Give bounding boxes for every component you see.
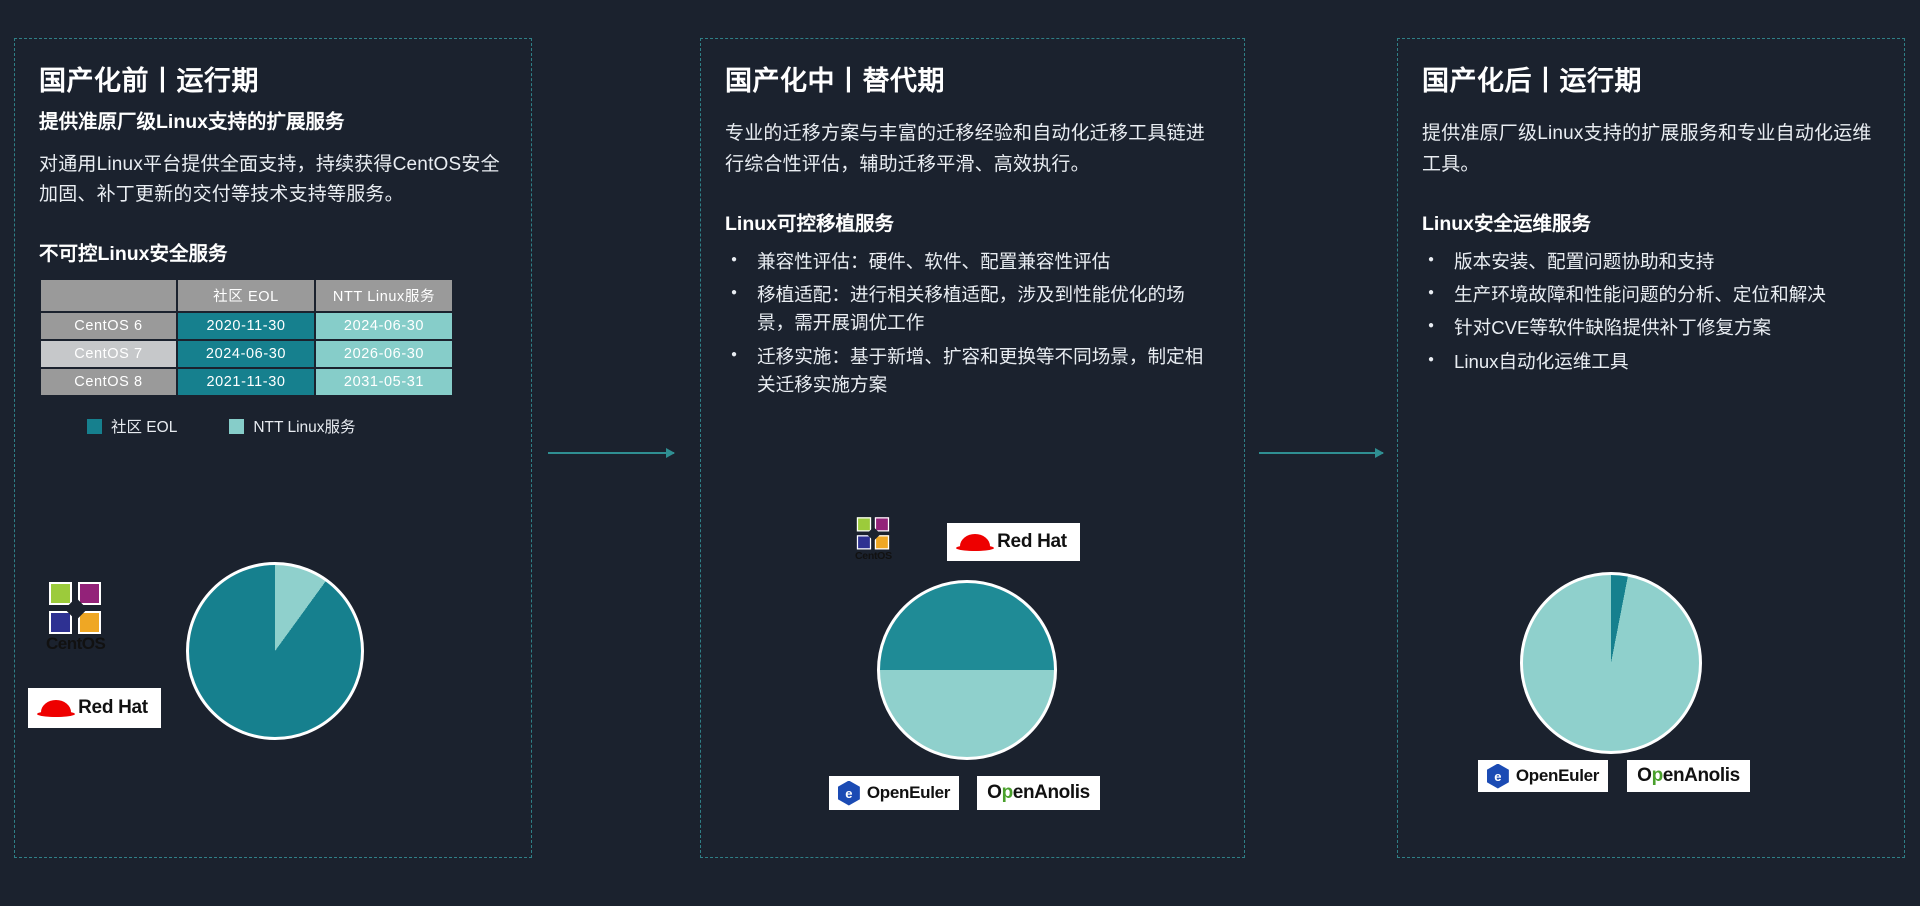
table-header-ntt: NTT Linux服务 bbox=[316, 280, 452, 311]
openeuler-logo: e OpenEuler bbox=[829, 776, 959, 810]
panel-1-title: 国产化前丨运行期 bbox=[39, 65, 507, 97]
redhat-logo: Red Hat bbox=[947, 523, 1080, 561]
openeuler-icon: e bbox=[1487, 764, 1509, 789]
redhat-wordmark: Red Hat bbox=[997, 531, 1067, 553]
centos-icon bbox=[855, 516, 891, 552]
openanolis-o: O bbox=[987, 782, 1001, 803]
arrow-connector-2 bbox=[1259, 452, 1383, 454]
openanolis-wordmark: OpenAnolis bbox=[1637, 765, 1740, 787]
arrow-connector-1 bbox=[548, 452, 674, 454]
legend-item-eol: 社区 EOL bbox=[87, 415, 177, 437]
legend-swatch-icon bbox=[87, 419, 102, 434]
list-item: 迁移实施：基于新增、扩容和更换等不同场景，制定相关迁移实施方案 bbox=[725, 343, 1220, 400]
pie-chart-after bbox=[1520, 572, 1702, 754]
panel-1-subtitle: 提供准原厂级Linux支持的扩展服务 bbox=[39, 109, 507, 135]
table-cell-eol: 2020-11-30 bbox=[178, 313, 314, 339]
legend-item-ntt: NTT Linux服务 bbox=[229, 415, 355, 437]
openanolis-leaf-icon: p bbox=[1652, 765, 1663, 786]
openeuler-wordmark: OpenEuler bbox=[1516, 766, 1599, 786]
centos-logo: CentOS bbox=[855, 516, 892, 562]
table-row: CentOS 8 2021-11-30 2031-05-31 bbox=[41, 369, 452, 395]
list-item: Linux自动化运维工具 bbox=[1422, 348, 1880, 376]
centos-quadrant bbox=[49, 582, 72, 605]
legend-swatch-icon bbox=[229, 419, 244, 434]
redhat-icon bbox=[960, 534, 990, 551]
table-cell-eol: 2024-06-30 bbox=[178, 341, 314, 367]
table-header-eol: 社区 EOL bbox=[178, 280, 314, 311]
table-header-row: 社区 EOL NTT Linux服务 bbox=[41, 280, 452, 311]
table-row: CentOS 7 2024-06-30 2026-06-30 bbox=[41, 341, 452, 367]
panel-3-body: 提供准原厂级Linux支持的扩展服务和专业自动化运维工具。 bbox=[1422, 119, 1880, 181]
centos-quadrant bbox=[78, 582, 101, 605]
redhat-icon bbox=[41, 700, 71, 717]
table-corner-cell bbox=[41, 280, 176, 311]
openeuler-icon: e bbox=[838, 781, 860, 806]
panel-1-body: 对通用Linux平台提供全面支持，持续获得CentOS安全加固、补丁更新的交付等… bbox=[39, 150, 507, 212]
openanolis-logo: OpenAnolis bbox=[977, 776, 1100, 810]
openeuler-logo: e OpenEuler bbox=[1478, 760, 1608, 792]
openanolis-rest: enAnolis bbox=[1013, 782, 1090, 803]
panel-1-section: 不可控Linux安全服务 bbox=[39, 237, 507, 266]
centos-quadrant bbox=[857, 517, 871, 531]
centos-quadrant bbox=[49, 611, 72, 634]
panel-3-title: 国产化后丨运行期 bbox=[1422, 65, 1880, 97]
table-row: CentOS 6 2020-11-30 2024-06-30 bbox=[41, 313, 452, 339]
centos-logo: CentOS bbox=[46, 580, 105, 654]
openanolis-wordmark: OpenAnolis bbox=[987, 782, 1090, 804]
table-cell-eol: 2021-11-30 bbox=[178, 369, 314, 395]
list-item: 版本安装、配置问题协助和支持 bbox=[1422, 248, 1880, 276]
openanolis-o: O bbox=[1637, 765, 1651, 786]
list-item: 针对CVE等软件缺陷提供补丁修复方案 bbox=[1422, 314, 1880, 342]
panel-3-bullets: 版本安装、配置问题协助和支持 生产环境故障和性能问题的分析、定位和解决 针对CV… bbox=[1422, 248, 1880, 376]
slide-canvas: 国产化前丨运行期 提供准原厂级Linux支持的扩展服务 对通用Linux平台提供… bbox=[0, 0, 1920, 906]
table-cell-os: CentOS 6 bbox=[41, 313, 176, 339]
list-item: 生产环境故障和性能问题的分析、定位和解决 bbox=[1422, 281, 1880, 309]
openanolis-rest: enAnolis bbox=[1663, 765, 1740, 786]
centos-icon bbox=[47, 580, 105, 638]
panel-2-bullets: 兼容性评估：硬件、软件、配置兼容性评估 移植适配：进行相关移植适配，涉及到性能优… bbox=[725, 248, 1220, 399]
pie-chart-during bbox=[877, 580, 1057, 760]
openeuler-wordmark: OpenEuler bbox=[867, 783, 950, 803]
list-item: 兼容性评估：硬件、软件、配置兼容性评估 bbox=[725, 248, 1220, 276]
openanolis-leaf-icon: p bbox=[1002, 782, 1013, 803]
table-cell-os: CentOS 8 bbox=[41, 369, 176, 395]
panel-3-section: Linux安全运维服务 bbox=[1422, 207, 1880, 236]
table-cell-os: CentOS 7 bbox=[41, 341, 176, 367]
table-cell-ntt: 2024-06-30 bbox=[316, 313, 452, 339]
legend-label: NTT Linux服务 bbox=[253, 415, 355, 437]
centos-quadrant bbox=[857, 535, 871, 549]
redhat-logo: Red Hat bbox=[28, 688, 161, 728]
eol-table: 社区 EOL NTT Linux服务 CentOS 6 2020-11-30 2… bbox=[39, 278, 454, 397]
panel-2-body: 专业的迁移方案与丰富的迁移经验和自动化迁移工具链进行综合性评估，辅助迁移平滑、高… bbox=[725, 119, 1220, 181]
panel-2-section: Linux可控移植服务 bbox=[725, 207, 1220, 236]
panel-2-title: 国产化中丨替代期 bbox=[725, 65, 1220, 97]
list-item: 移植适配：进行相关移植适配，涉及到性能优化的场景，需开展调优工作 bbox=[725, 281, 1220, 338]
pie-chart-before bbox=[186, 562, 364, 740]
openanolis-logo: OpenAnolis bbox=[1627, 760, 1750, 792]
legend-label: 社区 EOL bbox=[111, 415, 177, 437]
pie-legend: 社区 EOL NTT Linux服务 bbox=[39, 415, 507, 437]
redhat-wordmark: Red Hat bbox=[78, 697, 148, 719]
table-cell-ntt: 2026-06-30 bbox=[316, 341, 452, 367]
table-cell-ntt: 2031-05-31 bbox=[316, 369, 452, 395]
